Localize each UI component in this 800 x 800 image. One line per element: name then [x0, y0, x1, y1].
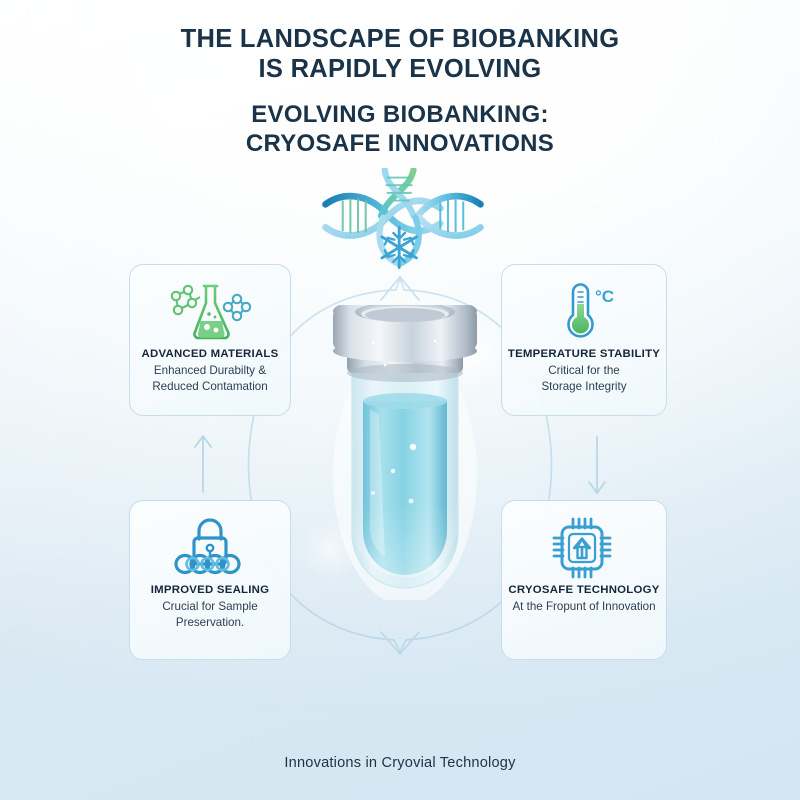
card-description-line2: Preservation.: [162, 615, 257, 631]
celsius-label: °C: [595, 287, 614, 306]
page-title-line1: THE LANDSCAPE OF BIOBANKING: [0, 24, 800, 54]
page-subtitle: EVOLVING BIOBANKING: CRYOSAFE INNOVATION…: [0, 101, 800, 159]
footer-caption: Innovations in Cryovial Technology: [0, 755, 800, 771]
flask-molecule-icon: [167, 281, 253, 343]
card-description-line1: At the Fropunt of Innovation: [512, 599, 655, 615]
page-subtitle-line2: CRYOSAFE INNOVATIONS: [0, 130, 800, 159]
right-down-arrow-icon: [589, 437, 605, 493]
page-subtitle-line1: EVOLVING BIOBANKING:: [0, 101, 800, 130]
card-title: CRYOSAFE TECHNOLOGY: [508, 584, 659, 596]
card-description-line2: Storage Integrity: [541, 379, 626, 395]
thermometer-celsius-icon: °C: [547, 281, 621, 343]
card-improved-sealing[interactable]: IMPROVED SEALING Crucial for Sample Pres…: [129, 500, 291, 660]
dna-helix-icon: [318, 168, 488, 278]
card-description: At the Fropunt of Innovation: [506, 599, 661, 615]
card-description-line1: Enhanced Durabilty &: [152, 363, 267, 379]
card-description-line1: Crucial for Sample: [162, 599, 257, 615]
card-title: IMPROVED SEALING: [151, 584, 270, 596]
microchip-arrow-up-icon: [552, 517, 616, 579]
card-title: ADVANCED MATERIALS: [142, 348, 279, 360]
page-title: THE LANDSCAPE OF BIOBANKING IS RAPIDLY E…: [0, 24, 800, 84]
left-up-arrow-icon: [195, 436, 211, 492]
cryovial-icon: [325, 305, 485, 600]
card-title: TEMPERATURE STABILITY: [508, 348, 660, 360]
card-description-line2: Reduced Contamation: [152, 379, 267, 395]
card-description: Crucial for Sample Preservation.: [156, 599, 263, 631]
card-description-line1: Critical for the: [541, 363, 626, 379]
card-description: Critical for the Storage Integrity: [535, 363, 632, 395]
card-advanced-materials[interactable]: ADVANCED MATERIALS Enhanced Durabilty & …: [129, 264, 291, 416]
header-block: THE LANDSCAPE OF BIOBANKING IS RAPIDLY E…: [0, 24, 800, 159]
page-title-line2: IS RAPIDLY EVOLVING: [0, 54, 800, 84]
lock-chain-icon: [169, 517, 251, 579]
card-cryosafe-technology[interactable]: CRYOSAFE TECHNOLOGY At the Fropunt of In…: [501, 500, 667, 660]
card-description: Enhanced Durabilty & Reduced Contamation: [146, 363, 273, 395]
infographic-canvas: THE LANDSCAPE OF BIOBANKING IS RAPIDLY E…: [0, 0, 800, 800]
card-temperature-stability[interactable]: °C TEMPERATURE STABILITY Critical for th…: [501, 264, 667, 416]
